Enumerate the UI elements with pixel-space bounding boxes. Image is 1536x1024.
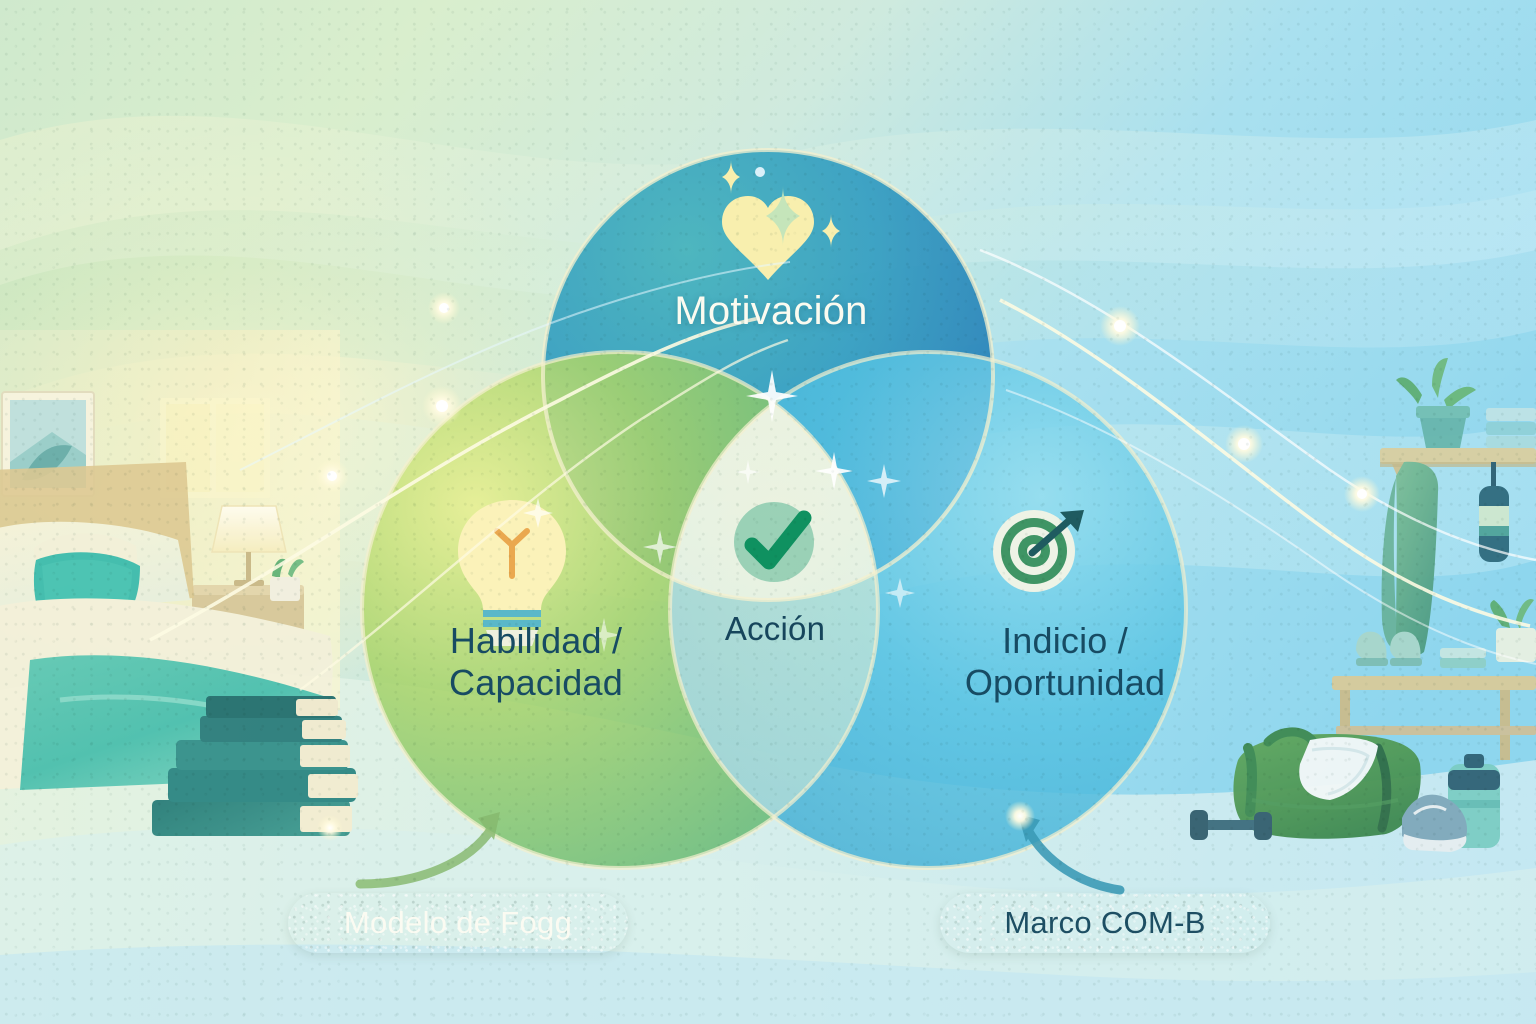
callout-pill-comb-label: Marco COM-B xyxy=(1004,905,1205,941)
glow-dots xyxy=(315,292,1380,841)
sparkles xyxy=(523,370,915,652)
callout-pill-modelo-de-fogg: Modelo de Fogg xyxy=(288,893,628,953)
callout-pill-fogg-label: Modelo de Fogg xyxy=(344,905,572,941)
illustration-canvas: Motivación Habilidad / Capacidad Indicio… xyxy=(0,0,1536,1024)
light-effects-layer xyxy=(0,0,1536,1024)
callout-pill-marco-com-b: Marco COM-B xyxy=(940,893,1270,953)
